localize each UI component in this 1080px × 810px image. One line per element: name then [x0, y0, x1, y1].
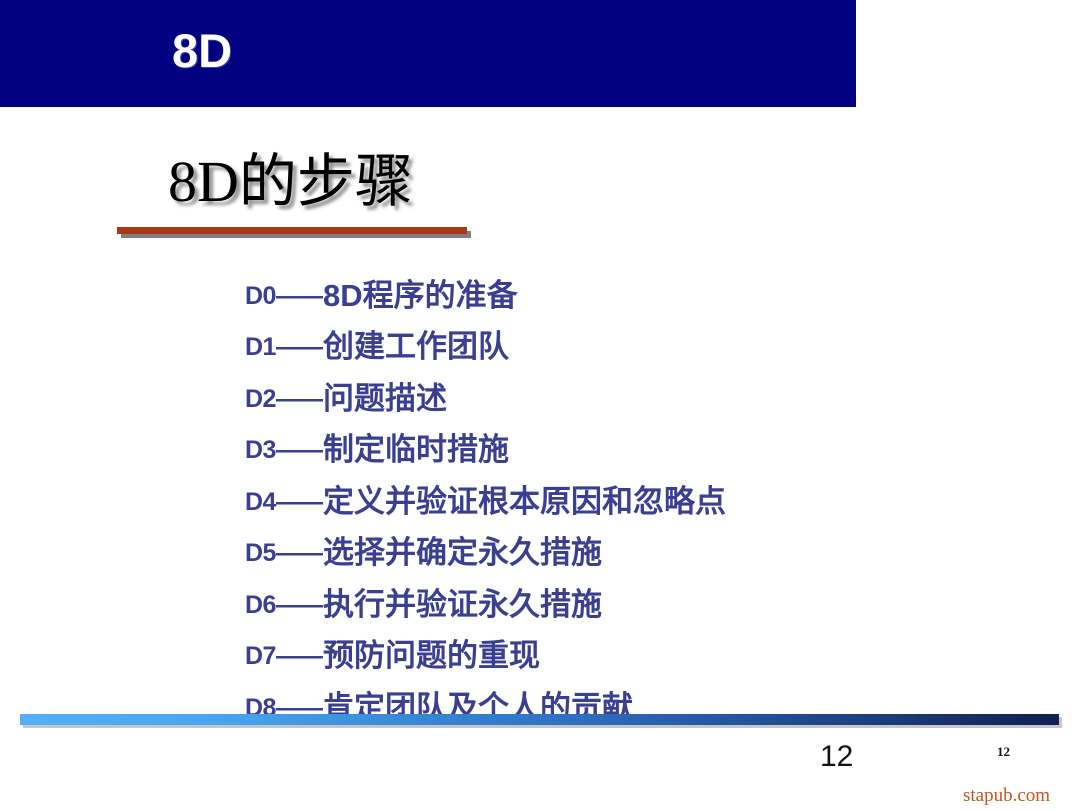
step-row: D6——执行并验证永久措施	[245, 579, 1045, 631]
title-underline-rule	[117, 227, 467, 239]
step-label: 问题描述	[323, 381, 447, 417]
header-title: 8D	[172, 22, 232, 80]
step-dash-separator: ——	[276, 384, 320, 414]
step-code: D5	[245, 538, 276, 568]
slide-canvas: { "header": { "title": "8D", "background…	[0, 0, 1080, 810]
steps-list: D0——8D程序的准备D1——创建工作团队D2——问题描述D3——制定临时措施D…	[245, 270, 1045, 734]
step-label: 定义并验证根本原因和忽略点	[323, 484, 726, 520]
page-number-secondary: 12	[997, 744, 1010, 759]
footer-bar-fill	[20, 714, 1059, 725]
step-dash-separator: ——	[276, 281, 320, 311]
step-row: D2——问题描述	[245, 373, 1045, 425]
page-number: 12	[820, 740, 853, 774]
step-label: 创建工作团队	[323, 329, 509, 365]
step-label: 8D程序的准备	[323, 278, 518, 314]
step-dash-separator: ——	[276, 487, 320, 517]
step-dash-separator: ——	[276, 590, 320, 620]
step-code: D3	[245, 435, 276, 465]
step-code: D4	[245, 487, 276, 517]
step-code: D1	[245, 332, 276, 362]
step-row: D4——定义并验证根本原因和忽略点	[245, 476, 1045, 528]
step-row: D0——8D程序的准备	[245, 270, 1045, 322]
step-code: D2	[245, 384, 276, 414]
step-dash-separator: ——	[276, 435, 320, 465]
step-code: D7	[245, 641, 276, 671]
step-row: D5——选择并确定永久措施	[245, 528, 1045, 580]
step-row: D1——创建工作团队	[245, 322, 1045, 374]
step-label: 执行并验证永久措施	[323, 587, 602, 623]
step-label: 制定临时措施	[323, 432, 509, 468]
watermark-label: stapub.com	[963, 785, 1050, 807]
step-code: D0	[245, 281, 276, 311]
page-title: 8D的步骤	[168, 146, 413, 218]
step-label: 选择并确定永久措施	[323, 535, 602, 571]
step-row: D3——制定临时措施	[245, 425, 1045, 477]
header-banner: 8D	[0, 0, 856, 107]
footer-gradient-bar	[20, 714, 1062, 728]
step-code: D6	[245, 590, 276, 620]
step-label: 预防问题的重现	[323, 638, 540, 674]
title-underline-bar	[117, 227, 467, 234]
step-dash-separator: ——	[276, 641, 320, 671]
step-row: D7——预防问题的重现	[245, 631, 1045, 683]
step-dash-separator: ——	[276, 538, 320, 568]
step-dash-separator: ——	[276, 332, 320, 362]
